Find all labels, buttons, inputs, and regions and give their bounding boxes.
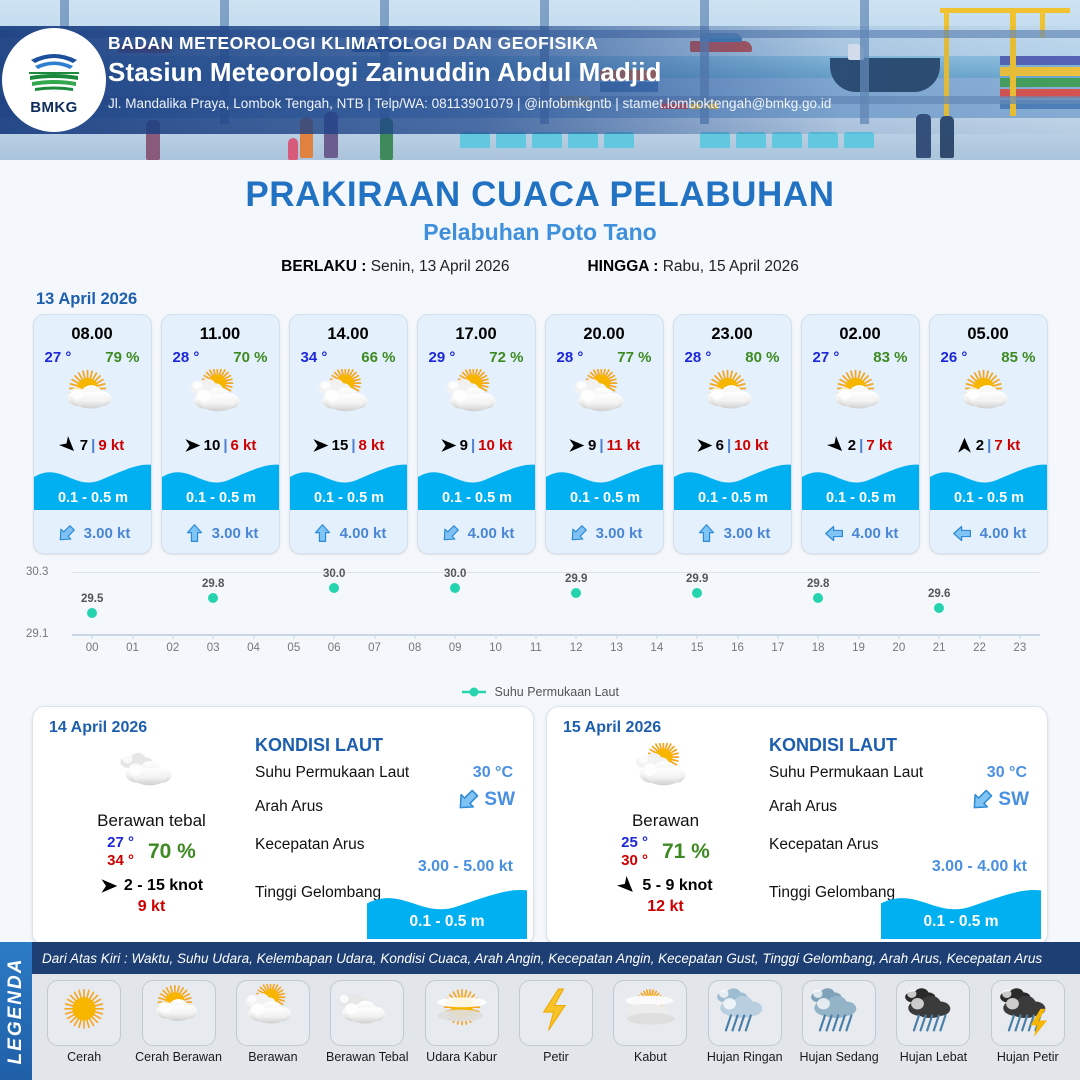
weather-hujan-lebat-icon <box>896 980 970 1046</box>
weather-cerah-berawan-icon <box>142 980 216 1046</box>
chart-x-tickmark <box>535 634 536 639</box>
legend-item-label: Cerah <box>67 1050 101 1064</box>
chart-data-point <box>87 608 97 618</box>
wind-direction-arrow-icon <box>828 437 845 454</box>
validity-row: BERLAKU : Senin, 13 April 2026 HINGGA : … <box>0 258 1080 276</box>
card-wave-height: 0.1 - 0.5 m <box>802 490 920 506</box>
chart-x-tick-label: 03 <box>207 642 220 654</box>
card-separator: | <box>987 437 991 454</box>
legend-item: Udara Kabur <box>417 980 505 1080</box>
daily-humidity: 71 % <box>662 840 710 864</box>
page-subtitle: Pelabuhan Poto Tano <box>0 219 1080 246</box>
bmkg-logo: BMKG <box>2 28 106 132</box>
chart-x-tickmark <box>334 634 335 639</box>
wind-direction-arrow-icon <box>696 437 713 454</box>
hourly-date-label: 13 April 2026 <box>36 290 1080 309</box>
chart-x-tickmark <box>818 634 819 639</box>
agency-name: BADAN METEOROLOGI KLIMATOLOGI DAN GEOFIS… <box>108 33 1048 54</box>
sea-condition-title: KONDISI LAUT <box>769 735 1033 756</box>
card-time: 05.00 <box>967 325 1008 344</box>
legend-item: Hujan Ringan <box>701 980 789 1080</box>
current-direction-value: SW <box>998 789 1029 811</box>
chart-data-label: 29.6 <box>928 588 950 600</box>
card-current-speed: 3.00 kt <box>724 525 771 542</box>
card-separator: | <box>91 437 95 454</box>
card-current-speed: 4.00 kt <box>340 525 387 542</box>
weather-cerah-berawan-icon <box>825 369 895 431</box>
daily-forecast-panel: 15 April 2026 Berawan 25 ° 30 ° 71 % <box>546 706 1048 946</box>
card-temperature: 26 ° <box>941 349 968 366</box>
weather-petir-icon <box>519 980 593 1046</box>
card-humidity: 83 % <box>873 349 907 366</box>
card-humidity: 72 % <box>489 349 523 366</box>
current-direction-arrow-icon <box>56 523 77 544</box>
chart-legend-marker-icon <box>461 686 487 700</box>
card-wind-speed: 9 <box>460 437 468 454</box>
card-separator: | <box>727 437 731 454</box>
card-time: 20.00 <box>583 325 624 344</box>
chart-x-tickmark <box>898 634 899 639</box>
chart-x-tickmark <box>495 634 496 639</box>
legend-item: Cerah <box>40 980 128 1080</box>
card-humidity: 77 % <box>617 349 651 366</box>
card-wave-height: 0.1 - 0.5 m <box>546 490 664 506</box>
card-temperature: 27 ° <box>813 349 840 366</box>
weather-cerah-berawan-icon <box>697 369 767 431</box>
daily-wave-value: 0.1 - 0.5 m <box>367 913 527 931</box>
chart-x-tick-label: 15 <box>691 642 704 654</box>
card-time: 23.00 <box>711 325 752 344</box>
current-speed-value: 3.00 - 5.00 kt <box>418 858 513 876</box>
card-temperature: 28 ° <box>173 349 200 366</box>
chart-x-tick-label: 13 <box>610 642 623 654</box>
wind-direction-arrow-icon <box>568 437 585 454</box>
daily-wave-value: 0.1 - 0.5 m <box>881 913 1041 931</box>
chart-x-tickmark <box>858 634 859 639</box>
card-time: 08.00 <box>71 325 112 344</box>
daily-temp-min: 25 ° <box>621 834 648 853</box>
legend-item: Hujan Lebat <box>889 980 977 1080</box>
legend-item-label: Kabut <box>634 1050 667 1064</box>
card-temperature: 28 ° <box>557 349 584 366</box>
card-separator: | <box>471 437 475 454</box>
valid-to-label: HINGGA : <box>587 258 658 275</box>
daily-condition: Berawan tebal <box>49 811 254 831</box>
legend-item-label: Petir <box>543 1050 569 1064</box>
wind-direction-arrow-icon <box>184 437 201 454</box>
legend-note: Dari Atas Kiri : Waktu, Suhu Udara, Kele… <box>32 942 1080 974</box>
chart-x-tickmark <box>213 634 214 639</box>
chart-x-tick-label: 04 <box>247 642 260 654</box>
wave-height-label: Tinggi Gelombang <box>255 884 381 901</box>
chart-x-tick-label: 05 <box>287 642 300 654</box>
daily-humidity: 70 % <box>148 840 196 864</box>
chart-x-tickmark <box>939 634 940 639</box>
chart-x-tick-label: 12 <box>570 642 583 654</box>
chart-x-tick-label: 23 <box>1013 642 1026 654</box>
legend-item: Petir <box>512 980 600 1080</box>
card-gust: 7 kt <box>866 437 892 454</box>
chart-x-tickmark <box>576 634 577 639</box>
legend-item: Hujan Sedang <box>795 980 883 1080</box>
card-current-speed: 4.00 kt <box>468 525 515 542</box>
wind-direction-arrow-icon <box>100 877 118 895</box>
chart-data-point <box>571 588 581 598</box>
card-gust: 11 kt <box>607 437 640 454</box>
daily-temp-max: 34 ° <box>107 852 134 871</box>
card-wave-height: 0.1 - 0.5 m <box>674 490 792 506</box>
legend-side-title: LEGENDA <box>5 958 27 1065</box>
chart-data-point <box>450 583 460 593</box>
chart-x-tickmark <box>132 634 133 639</box>
sst-chart-plot: 29.529.830.030.029.929.929.829.6 <box>72 572 1040 634</box>
chart-x-tick-label: 17 <box>771 642 784 654</box>
card-current-speed: 3.00 kt <box>212 525 259 542</box>
chart-data-point <box>329 583 339 593</box>
card-time: 02.00 <box>839 325 880 344</box>
sst-chart: 29.529.830.030.029.929.929.829.6 30.329.… <box>26 568 1054 683</box>
weather-udara-kabur-icon <box>425 980 499 1046</box>
wind-direction-arrow-icon <box>312 437 329 454</box>
chart-data-label: 29.9 <box>686 573 708 585</box>
page-title: PRAKIRAAN CUACA PELABUHAN <box>0 175 1080 215</box>
card-wave-height: 0.1 - 0.5 m <box>930 490 1048 506</box>
current-direction-value: SW <box>484 789 515 811</box>
legend-item-label: Hujan Lebat <box>900 1050 967 1064</box>
weather-berawan-icon <box>185 369 255 431</box>
legend-items: Cerah Cerah Berawan Berawan <box>32 974 1080 1080</box>
chart-x-tick-label: 22 <box>973 642 986 654</box>
station-contact: Jl. Mandalika Praya, Lombok Tengah, NTB … <box>108 96 1048 111</box>
chart-x-tick-label: 01 <box>126 642 139 654</box>
hourly-card: 08.00 27 ° 79 % 7 | 9 kt 0.1 - 0.5 m 3.0… <box>33 314 152 554</box>
current-direction-arrow-icon <box>455 787 481 813</box>
chart-data-point <box>692 588 702 598</box>
chart-data-point <box>208 593 218 603</box>
valid-to: HINGGA : Rabu, 15 April 2026 <box>587 258 798 276</box>
daily-forecast-panel: 14 April 2026 Berawan tebal 27 ° 34 ° 70… <box>32 706 534 946</box>
card-humidity: 85 % <box>1001 349 1035 366</box>
legend-item-label: Hujan Sedang <box>799 1050 878 1064</box>
card-temperature: 34 ° <box>301 349 328 366</box>
chart-x-tick-label: 00 <box>86 642 99 654</box>
weather-cerah-berawan-icon <box>953 369 1023 431</box>
legend-item-label: Hujan Ringan <box>707 1050 783 1064</box>
chart-x-tick-label: 21 <box>933 642 946 654</box>
valid-from-value: Senin, 13 April 2026 <box>371 258 510 275</box>
card-time: 17.00 <box>455 325 496 344</box>
chart-data-label: 29.5 <box>81 593 103 605</box>
station-name: Stasiun Meteorologi Zainuddin Abdul Madj… <box>108 57 1048 88</box>
chart-x-tickmark <box>777 634 778 639</box>
chart-x-tickmark <box>374 634 375 639</box>
weather-hujan-sedang-icon <box>802 980 876 1046</box>
card-gust: 10 kt <box>734 437 768 454</box>
daily-forecast-row: 14 April 2026 Berawan tebal 27 ° 34 ° 70… <box>0 706 1080 946</box>
card-humidity: 80 % <box>745 349 779 366</box>
chart-x-tick-label: 02 <box>166 642 179 654</box>
chart-x-tick-label: 06 <box>328 642 341 654</box>
weather-berawan-icon <box>563 743 768 805</box>
chart-data-label: 29.9 <box>565 573 587 585</box>
daily-gust: 9 kt <box>49 898 254 916</box>
hourly-card: 17.00 29 ° 72 % 9 | 10 kt 0.1 - 0.5 m <box>417 314 536 554</box>
chart-legend: Suhu Permukaan Laut <box>0 685 1080 700</box>
card-gust: 6 kt <box>231 437 257 454</box>
card-separator: | <box>599 437 603 454</box>
daily-wind-range: 2 - 15 knot <box>124 877 203 895</box>
daily-temp-min: 27 ° <box>107 834 134 853</box>
card-gust: 9 kt <box>98 437 124 454</box>
current-direction-arrow-icon <box>312 523 333 544</box>
hourly-card: 23.00 28 ° 80 % 6 | 10 kt 0.1 - 0.5 m 3.… <box>673 314 792 554</box>
current-direction-label: Arah Arus <box>255 798 323 815</box>
card-temperature: 28 ° <box>685 349 712 366</box>
hourly-card: 20.00 28 ° 77 % 9 | 11 kt 0.1 - 0.5 m <box>545 314 664 554</box>
legend-item: Cerah Berawan <box>134 980 222 1080</box>
chart-x-tick-label: 14 <box>650 642 663 654</box>
daily-condition: Berawan <box>563 811 768 831</box>
weather-berawan-icon <box>569 369 639 431</box>
daily-temp-max: 30 ° <box>621 852 648 871</box>
chart-x-tickmark <box>616 634 617 639</box>
sst-value: 30 °C <box>987 764 1027 782</box>
current-direction-label: Arah Arus <box>769 798 837 815</box>
card-wave-height: 0.1 - 0.5 m <box>162 490 280 506</box>
chart-x-tickmark <box>92 634 93 639</box>
hourly-card: 11.00 28 ° 70 % 10 | 6 kt 0.1 - 0.5 m <box>161 314 280 554</box>
wind-direction-arrow-icon <box>618 877 636 895</box>
card-current-speed: 4.00 kt <box>980 525 1027 542</box>
card-separator: | <box>351 437 355 454</box>
current-direction-arrow-icon <box>184 523 205 544</box>
card-time: 14.00 <box>327 325 368 344</box>
chart-x-tick-label: 20 <box>892 642 905 654</box>
card-humidity: 66 % <box>361 349 395 366</box>
weather-berawan-icon <box>441 369 511 431</box>
weather-berawan-tebal-icon <box>330 980 404 1046</box>
chart-data-point <box>813 593 823 603</box>
chart-x-tickmark <box>293 634 294 639</box>
card-wave-height: 0.1 - 0.5 m <box>34 490 152 506</box>
sst-value: 30 °C <box>473 764 513 782</box>
weather-berawan-tebal-icon <box>49 743 254 805</box>
chart-x-tick-label: 07 <box>368 642 381 654</box>
card-temperature: 29 ° <box>429 349 456 366</box>
card-time: 11.00 <box>200 325 240 344</box>
card-gust: 7 kt <box>994 437 1020 454</box>
hourly-card: 02.00 27 ° 83 % 2 | 7 kt 0.1 - 0.5 m 4.0… <box>801 314 920 554</box>
card-wind-speed: 15 <box>332 437 349 454</box>
current-direction-arrow-icon <box>440 523 461 544</box>
weather-cerah-berawan-icon <box>57 369 127 431</box>
legend-item: Kabut <box>606 980 694 1080</box>
current-direction-arrow-icon <box>952 523 973 544</box>
sst-label: Suhu Permukaan Laut <box>255 764 409 781</box>
chart-x-tick-label: 18 <box>812 642 825 654</box>
card-wind-speed: 7 <box>80 437 88 454</box>
wave-height-label: Tinggi Gelombang <box>769 884 895 901</box>
hourly-card: 05.00 26 ° 85 % 2 | 7 kt 0.1 - 0.5 m 4.0… <box>929 314 1048 554</box>
valid-to-value: Rabu, 15 April 2026 <box>663 258 799 275</box>
valid-from-label: BERLAKU : <box>281 258 366 275</box>
current-speed-label: Kecepatan Arus <box>255 836 364 853</box>
card-wind-speed: 2 <box>848 437 856 454</box>
chart-data-label: 30.0 <box>444 568 466 580</box>
card-gust: 8 kt <box>359 437 385 454</box>
chart-x-tickmark <box>737 634 738 639</box>
chart-x-tickmark <box>1019 634 1020 639</box>
sea-condition-title: KONDISI LAUT <box>255 735 519 756</box>
legend-item-label: Cerah Berawan <box>135 1050 222 1064</box>
chart-x-tick-label: 19 <box>852 642 865 654</box>
legend-item-label: Berawan <box>248 1050 297 1064</box>
chart-legend-label: Suhu Permukaan Laut <box>495 685 619 699</box>
sst-label: Suhu Permukaan Laut <box>769 764 923 781</box>
chart-x-tickmark <box>414 634 415 639</box>
chart-x-tickmark <box>455 634 456 639</box>
legend-item-label: Berawan Tebal <box>326 1050 408 1064</box>
card-wave-height: 0.1 - 0.5 m <box>290 490 408 506</box>
chart-data-label: 30.0 <box>323 568 345 580</box>
weather-cerah-icon <box>47 980 121 1046</box>
card-wind-speed: 9 <box>588 437 596 454</box>
legend-item-label: Udara Kabur <box>426 1050 497 1064</box>
card-humidity: 70 % <box>233 349 267 366</box>
legend-item: Berawan <box>229 980 317 1080</box>
chart-x-tick-label: 09 <box>449 642 462 654</box>
chart-x-tick-label: 10 <box>489 642 502 654</box>
card-separator: | <box>859 437 863 454</box>
chart-data-label: 29.8 <box>202 578 224 590</box>
card-temperature: 27 ° <box>45 349 72 366</box>
wind-direction-arrow-icon <box>440 437 457 454</box>
chart-data-point <box>934 603 944 613</box>
current-direction-arrow-icon <box>969 787 995 813</box>
daily-wind-range: 5 - 9 knot <box>642 877 712 895</box>
hourly-forecast-row: 08.00 27 ° 79 % 7 | 9 kt 0.1 - 0.5 m 3.0… <box>0 314 1080 554</box>
title-block: PRAKIRAAN CUACA PELABUHAN Pelabuhan Poto… <box>0 175 1080 276</box>
chart-x-tick-label: 08 <box>408 642 421 654</box>
card-gust: 10 kt <box>478 437 512 454</box>
wind-direction-arrow-icon <box>60 437 77 454</box>
card-current-speed: 3.00 kt <box>596 525 643 542</box>
card-separator: | <box>223 437 227 454</box>
daily-gust: 12 kt <box>563 898 768 916</box>
card-current-speed: 4.00 kt <box>852 525 899 542</box>
card-current-speed: 3.00 kt <box>84 525 131 542</box>
legend-item: Hujan Petir <box>984 980 1072 1080</box>
card-wind-speed: 2 <box>976 437 984 454</box>
chart-data-label: 29.8 <box>807 578 829 590</box>
bmkg-logo-mark <box>23 44 85 98</box>
legend-side-banner: LEGENDA <box>0 942 32 1080</box>
current-speed-value: 3.00 - 4.00 kt <box>932 858 1027 876</box>
current-direction-arrow-icon <box>568 523 589 544</box>
chart-x-tickmark <box>656 634 657 639</box>
card-wave-height: 0.1 - 0.5 m <box>418 490 536 506</box>
current-speed-label: Kecepatan Arus <box>769 836 878 853</box>
weather-berawan-icon <box>236 980 310 1046</box>
chart-x-tick-label: 11 <box>530 642 542 654</box>
page-header: BMKG BADAN METEOROLOGI KLIMATOLOGI DAN G… <box>0 0 1080 160</box>
weather-kabut-icon <box>613 980 687 1046</box>
wind-direction-arrow-icon <box>956 437 973 454</box>
bmkg-logo-text: BMKG <box>30 99 77 116</box>
card-wind-speed: 10 <box>204 437 221 454</box>
chart-x-tickmark <box>697 634 698 639</box>
legend-strip: LEGENDA Dari Atas Kiri : Waktu, Suhu Uda… <box>0 942 1080 1080</box>
chart-x-tickmark <box>253 634 254 639</box>
card-wind-speed: 6 <box>716 437 724 454</box>
current-direction-arrow-icon <box>696 523 717 544</box>
chart-x-tickmark <box>979 634 980 639</box>
legend-item: Berawan Tebal <box>323 980 411 1080</box>
legend-item-label: Hujan Petir <box>997 1050 1059 1064</box>
valid-from: BERLAKU : Senin, 13 April 2026 <box>281 258 509 276</box>
weather-hujan-ringan-icon <box>708 980 782 1046</box>
current-direction-arrow-icon <box>824 523 845 544</box>
hourly-card: 14.00 34 ° 66 % 15 | 8 kt 0.1 - 0.5 m <box>289 314 408 554</box>
weather-berawan-icon <box>313 369 383 431</box>
card-humidity: 79 % <box>105 349 139 366</box>
chart-x-tickmark <box>172 634 173 639</box>
weather-hujan-petir-icon <box>991 980 1065 1046</box>
chart-x-tick-label: 16 <box>731 642 744 654</box>
